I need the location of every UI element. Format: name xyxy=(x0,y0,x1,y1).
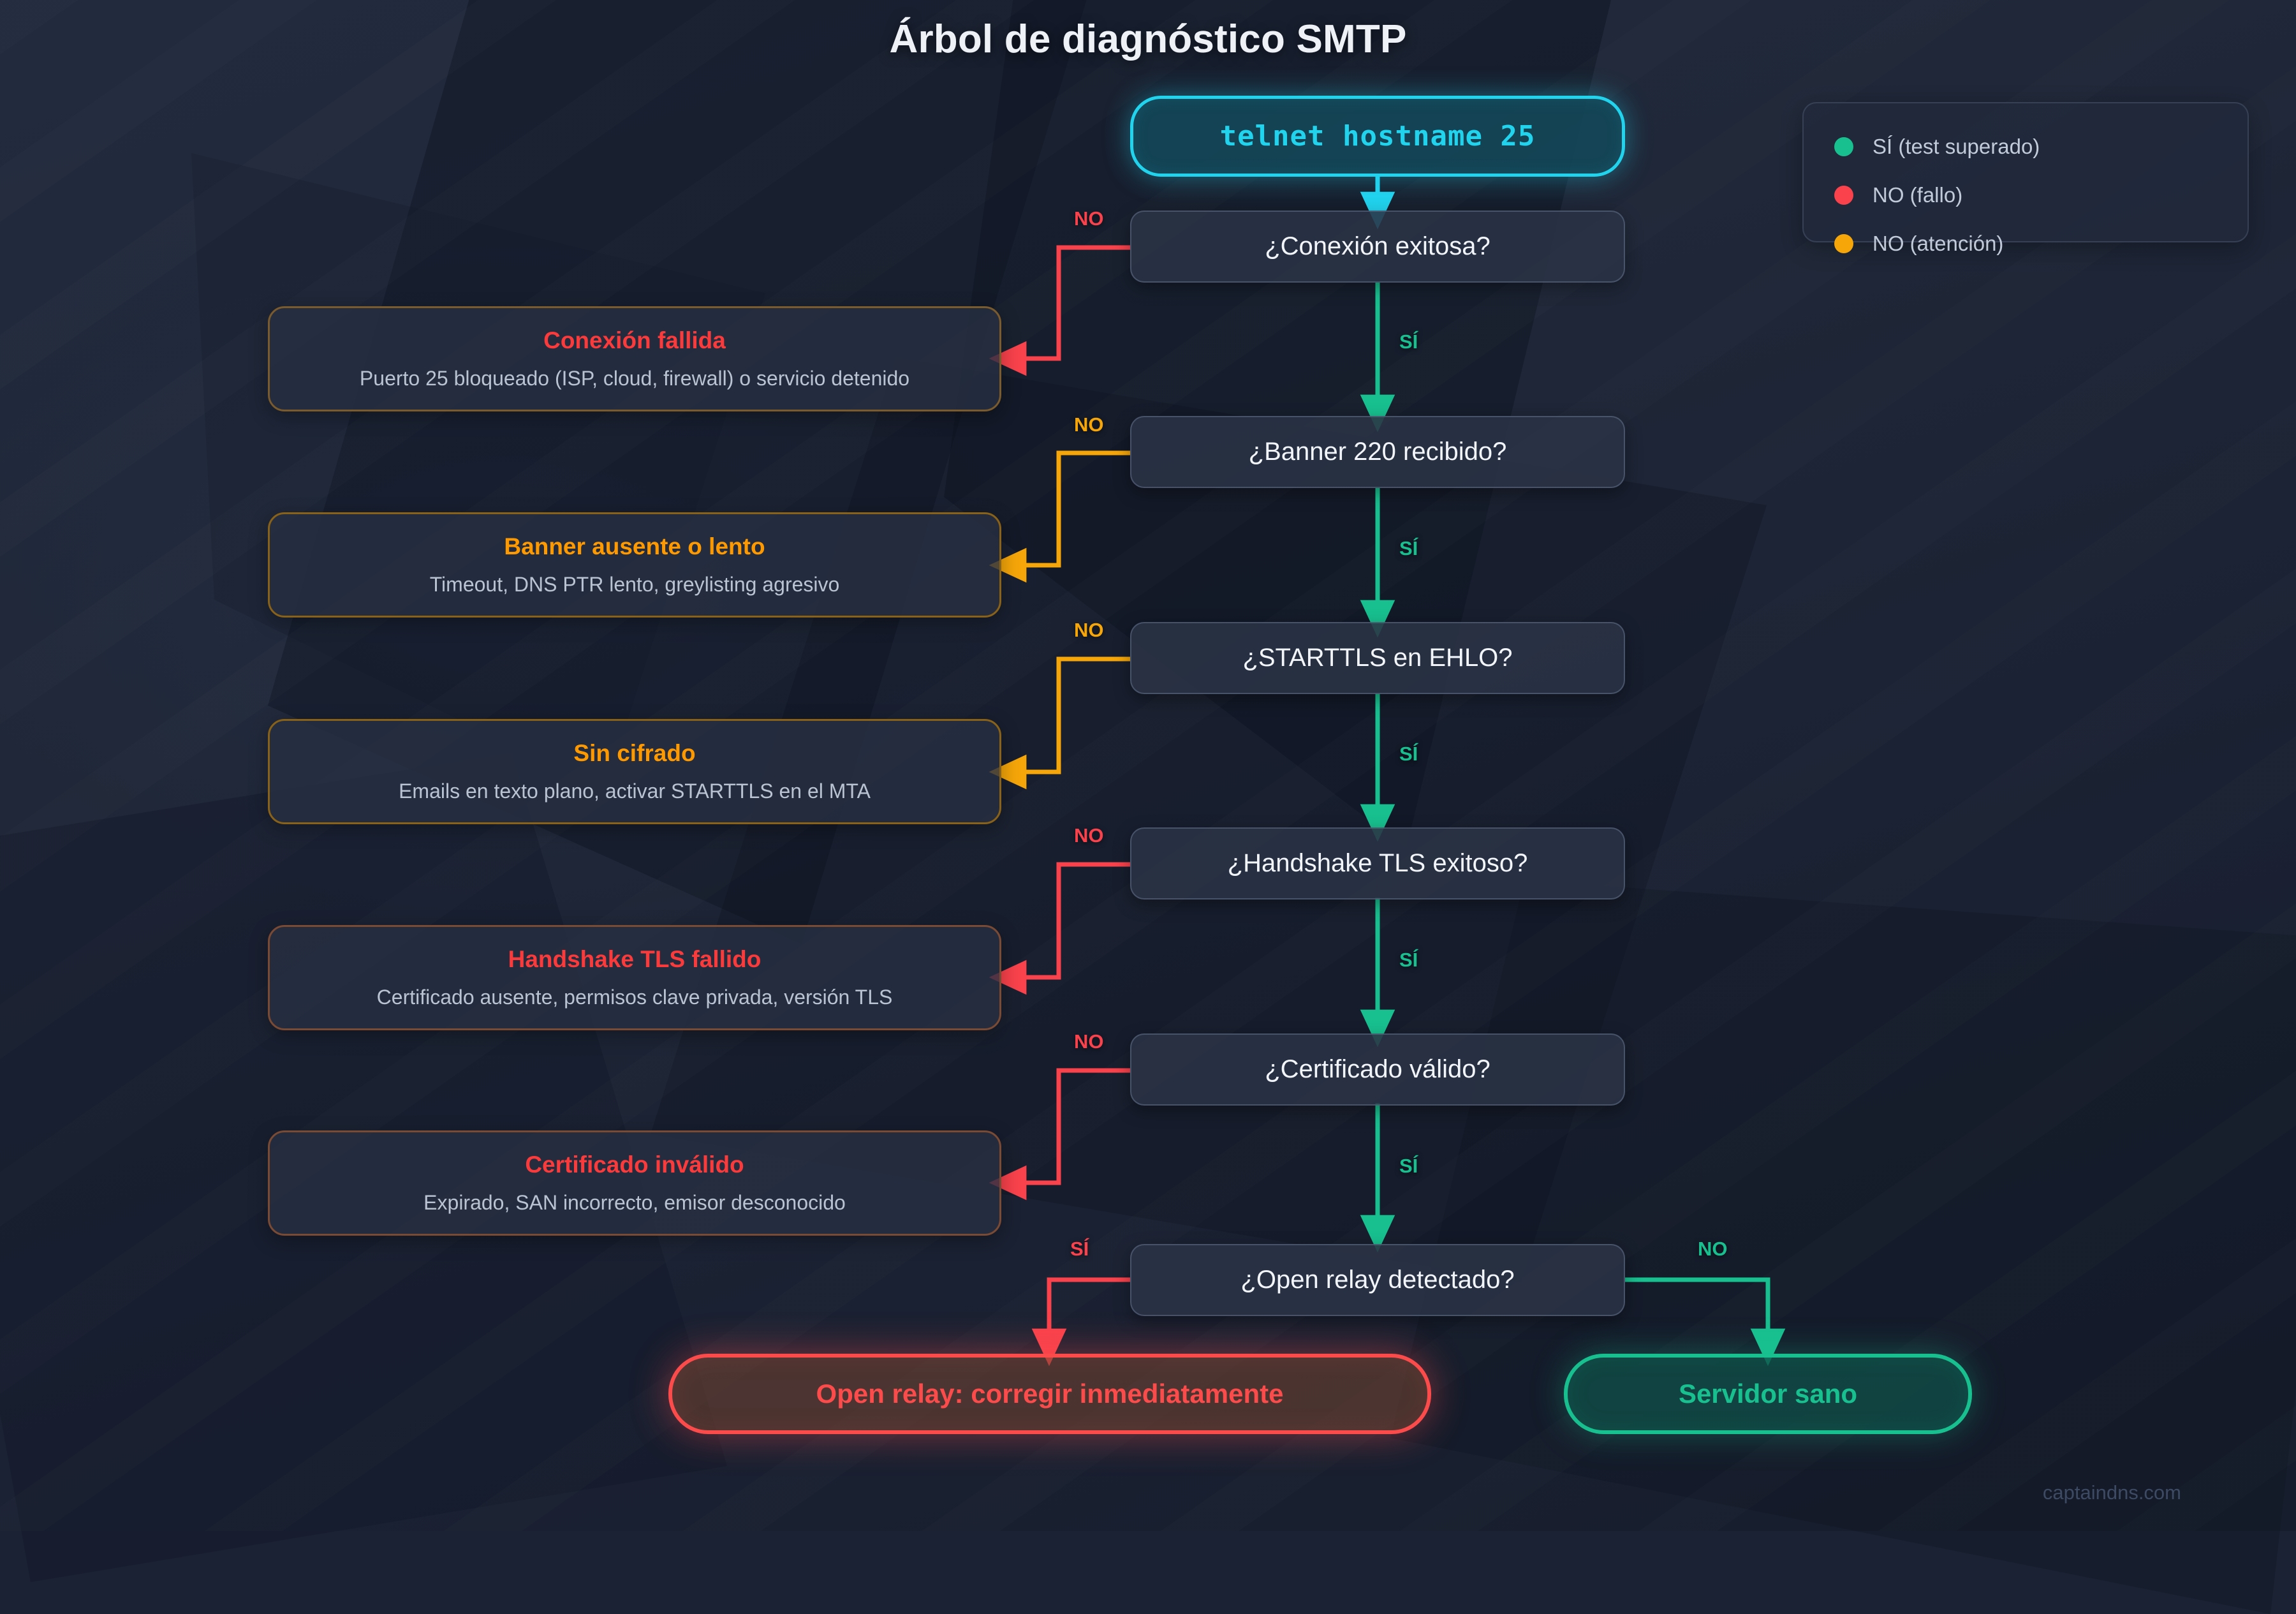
node-terminal-servidor-sano[interactable]: Servidor sano xyxy=(1564,1354,1972,1434)
node-decision-conexion[interactable]: ¿Conexión exitosa? xyxy=(1130,211,1625,283)
legend-label: NO (fallo) xyxy=(1873,183,1962,207)
outcome-heading: Conexión fallida xyxy=(543,327,726,354)
node-outcome-certificado-invalido[interactable]: Certificado inválido Expirado, SAN incor… xyxy=(268,1130,1001,1236)
edge-label-no-1: NO xyxy=(1074,207,1104,230)
legend-item-no-warn: NO (atención) xyxy=(1834,219,2248,268)
outcome-heading: Certificado inválido xyxy=(525,1151,744,1178)
node-label: ¿STARTTLS en EHLO? xyxy=(1242,644,1512,672)
red-dot-icon xyxy=(1834,186,1853,205)
node-label: Servidor sano xyxy=(1679,1379,1857,1409)
node-outcome-handshake-fallido[interactable]: Handshake TLS fallido Certificado ausent… xyxy=(268,925,1001,1030)
node-decision-handshake[interactable]: ¿Handshake TLS exitoso? xyxy=(1130,827,1625,900)
edge-label-si-4: SÍ xyxy=(1399,949,1418,972)
edge-label-no-2: NO xyxy=(1074,413,1104,436)
outcome-detail: Puerto 25 bloqueado (ISP, cloud, firewal… xyxy=(360,367,909,390)
outcome-detail: Emails en texto plano, activar STARTTLS … xyxy=(399,780,871,803)
node-label: telnet hostname 25 xyxy=(1220,120,1536,152)
legend-label: SÍ (test superado) xyxy=(1873,135,2040,159)
watermark: captaindns.com xyxy=(2043,1481,2181,1504)
node-label: ¿Handshake TLS exitoso? xyxy=(1228,849,1528,878)
edge-label-no-4: NO xyxy=(1074,824,1104,847)
edge-label-relay-si: SÍ xyxy=(1070,1238,1089,1261)
node-decision-starttls[interactable]: ¿STARTTLS en EHLO? xyxy=(1130,622,1625,694)
outcome-heading: Banner ausente o lento xyxy=(504,533,765,560)
legend-panel: SÍ (test superado) NO (fallo) NO (atenci… xyxy=(1802,102,2249,242)
legend-item-yes: SÍ (test superado) xyxy=(1834,122,2248,171)
orange-dot-icon xyxy=(1834,234,1853,253)
legend-label: NO (atención) xyxy=(1873,232,2003,256)
node-label: Open relay: corregir inmediatamente xyxy=(816,1379,1284,1409)
outcome-heading: Sin cifrado xyxy=(573,740,695,767)
edge-label-si-2: SÍ xyxy=(1399,537,1418,560)
edge-label-no-5: NO xyxy=(1074,1030,1104,1053)
node-decision-certificado[interactable]: ¿Certificado válido? xyxy=(1130,1033,1625,1106)
edge-label-no-3: NO xyxy=(1074,619,1104,642)
node-outcome-banner-ausente[interactable]: Banner ausente o lento Timeout, DNS PTR … xyxy=(268,512,1001,618)
node-outcome-sin-cifrado[interactable]: Sin cifrado Emails en texto plano, activ… xyxy=(268,719,1001,824)
outcome-detail: Expirado, SAN incorrecto, emisor descono… xyxy=(423,1191,846,1215)
outcome-detail: Certificado ausente, permisos clave priv… xyxy=(377,986,893,1009)
diagram-canvas: Árbol de diagnóstico SMTP SÍ (test super… xyxy=(0,0,2296,1531)
edge-label-si-5: SÍ xyxy=(1399,1155,1418,1178)
page-title: Árbol de diagnóstico SMTP xyxy=(0,17,2296,62)
legend-item-no-fail: NO (fallo) xyxy=(1834,171,2248,219)
node-label: ¿Certificado válido? xyxy=(1265,1055,1490,1084)
outcome-heading: Handshake TLS fallido xyxy=(508,946,762,973)
node-label: ¿Conexión exitosa? xyxy=(1265,232,1490,261)
outcome-detail: Timeout, DNS PTR lento, greylisting agre… xyxy=(430,573,840,596)
node-terminal-open-relay[interactable]: Open relay: corregir inmediatamente xyxy=(668,1354,1431,1434)
node-decision-banner[interactable]: ¿Banner 220 recibido? xyxy=(1130,416,1625,488)
edge-label-si-3: SÍ xyxy=(1399,743,1418,766)
edge-label-si-1: SÍ xyxy=(1399,330,1418,353)
node-label: ¿Banner 220 recibido? xyxy=(1249,438,1507,466)
green-dot-icon xyxy=(1834,137,1853,156)
node-root-command[interactable]: telnet hostname 25 xyxy=(1130,96,1625,177)
edge-label-relay-no: NO xyxy=(1698,1238,1728,1261)
node-decision-open-relay[interactable]: ¿Open relay detectado? xyxy=(1130,1244,1625,1316)
node-label: ¿Open relay detectado? xyxy=(1240,1266,1514,1294)
node-outcome-conexion-fallida[interactable]: Conexión fallida Puerto 25 bloqueado (IS… xyxy=(268,306,1001,411)
